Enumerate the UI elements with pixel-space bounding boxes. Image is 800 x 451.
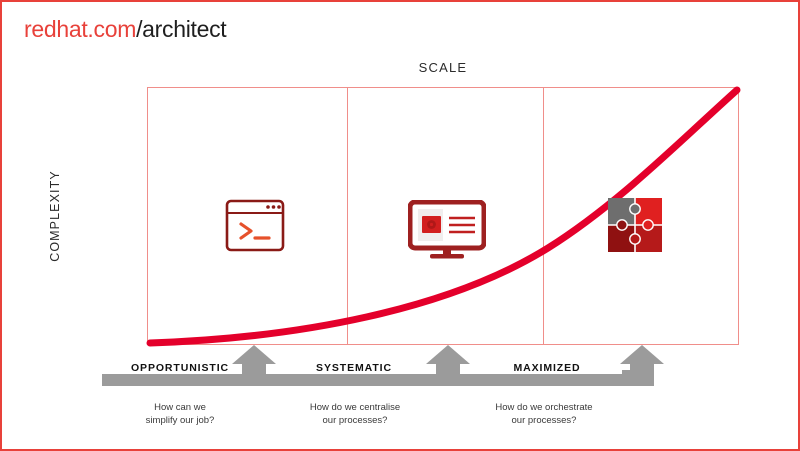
stage-label-systematic: SYSTEMATIC <box>299 362 409 374</box>
terminal-icon <box>224 198 286 258</box>
monitor-icon <box>408 200 486 265</box>
stage-question-maximized: How do we orchestrate our processes? <box>474 401 614 427</box>
stage-label-maximized: MAXIMIZED <box>492 362 602 374</box>
brand-secondary: /architect <box>136 16 226 42</box>
puzzle-icon <box>606 196 664 259</box>
stage-question-systematic: How do we centralise our processes? <box>285 401 425 427</box>
infographic-page: redhat.com/architect SCALE COMPLEXITY <box>0 0 800 451</box>
brand-primary: redhat.com <box>24 16 136 42</box>
stage-label-opportunistic: OPPORTUNISTIC <box>125 362 235 374</box>
y-axis-label-complexity: COMPLEXITY <box>48 136 62 296</box>
chart-title-scale: SCALE <box>147 60 739 75</box>
stage-question-opportunistic: How can we simplify our job? <box>120 401 240 427</box>
brand-logo: redhat.com/architect <box>24 16 226 43</box>
